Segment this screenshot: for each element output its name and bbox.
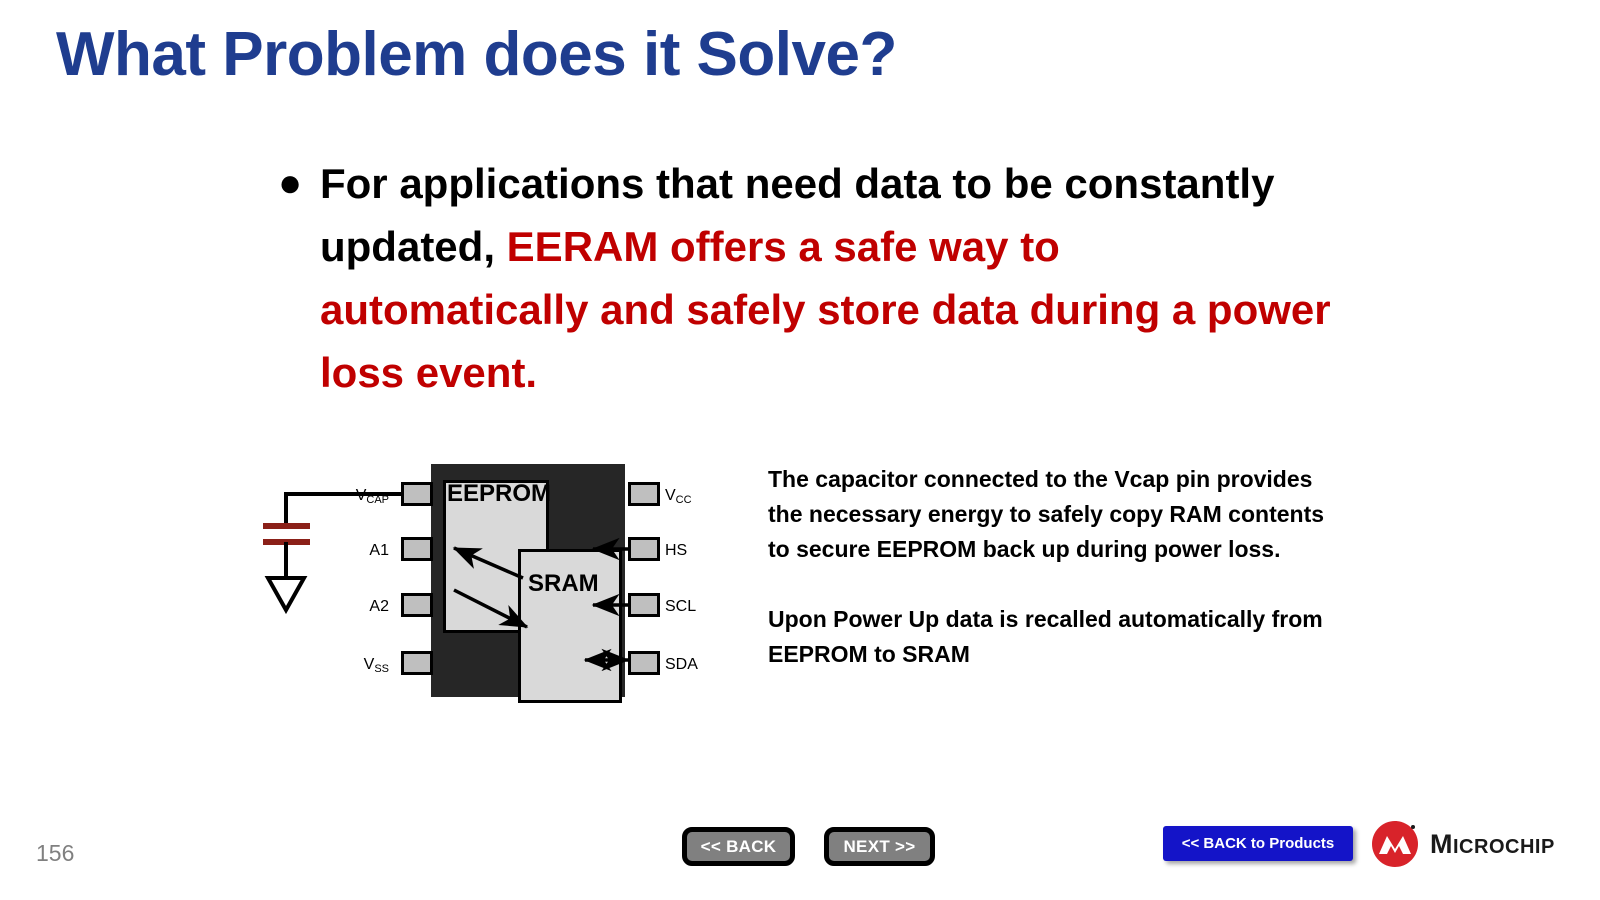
back-to-products-button[interactable]: << BACK to Products [1163, 826, 1353, 861]
pin-sda [628, 651, 660, 675]
pin-a1 [401, 537, 433, 561]
back-button[interactable]: << BACK [682, 827, 795, 866]
microchip-logo: MICROCHIP [1368, 818, 1580, 870]
page-title: What Problem does it Solve? [56, 24, 897, 86]
ground-symbol [268, 578, 304, 610]
pin-label-scl: SCL [665, 599, 696, 615]
bullet-text: For applications that need data to be co… [320, 152, 1338, 404]
pin-label-a1: A1 [369, 543, 389, 559]
eeprom-block-label: EEPROM [447, 482, 551, 506]
pin-label-a2: A2 [369, 599, 389, 615]
microchip-logo-mark-icon [1368, 819, 1422, 869]
pin-label-hs: HS [665, 543, 687, 559]
notes-paragraph-1: The capacitor connected to the Vcap pin … [768, 462, 1328, 567]
pin-vcc [628, 482, 660, 506]
pin-hs [628, 537, 660, 561]
bullet-block: ● For applications that need data to be … [278, 152, 1338, 404]
pin-vss [401, 651, 433, 675]
pin-label-vss: VSS [364, 657, 389, 673]
pin-label-vcc: VCC [665, 488, 692, 504]
pin-a2 [401, 593, 433, 617]
pin-label-sda: SDA [665, 657, 698, 673]
page-number: 156 [36, 840, 74, 867]
notes-spacer [768, 567, 1328, 602]
pin-label-vcap: VCAP [356, 488, 389, 504]
pin-scl [628, 593, 660, 617]
explanation-notes: The capacitor connected to the Vcap pin … [768, 462, 1328, 672]
pin-vcap [401, 482, 433, 506]
slide-root: What Problem does it Solve? ● For applic… [0, 0, 1600, 900]
microchip-wordmark: MICROCHIP [1430, 831, 1555, 858]
bullet-row: ● For applications that need data to be … [278, 152, 1338, 404]
notes-paragraph-2: Upon Power Up data is recalled automatic… [768, 602, 1328, 672]
next-button[interactable]: NEXT >> [824, 827, 935, 866]
sram-block-label: SRAM [528, 572, 599, 596]
capacitor-symbol [263, 526, 310, 578]
bullet-dot-icon: ● [278, 152, 320, 214]
eeram-chip-diagram: VCAP A1 A2 VSS VCC HS SCL SDA EEPROM SRA… [255, 450, 725, 720]
